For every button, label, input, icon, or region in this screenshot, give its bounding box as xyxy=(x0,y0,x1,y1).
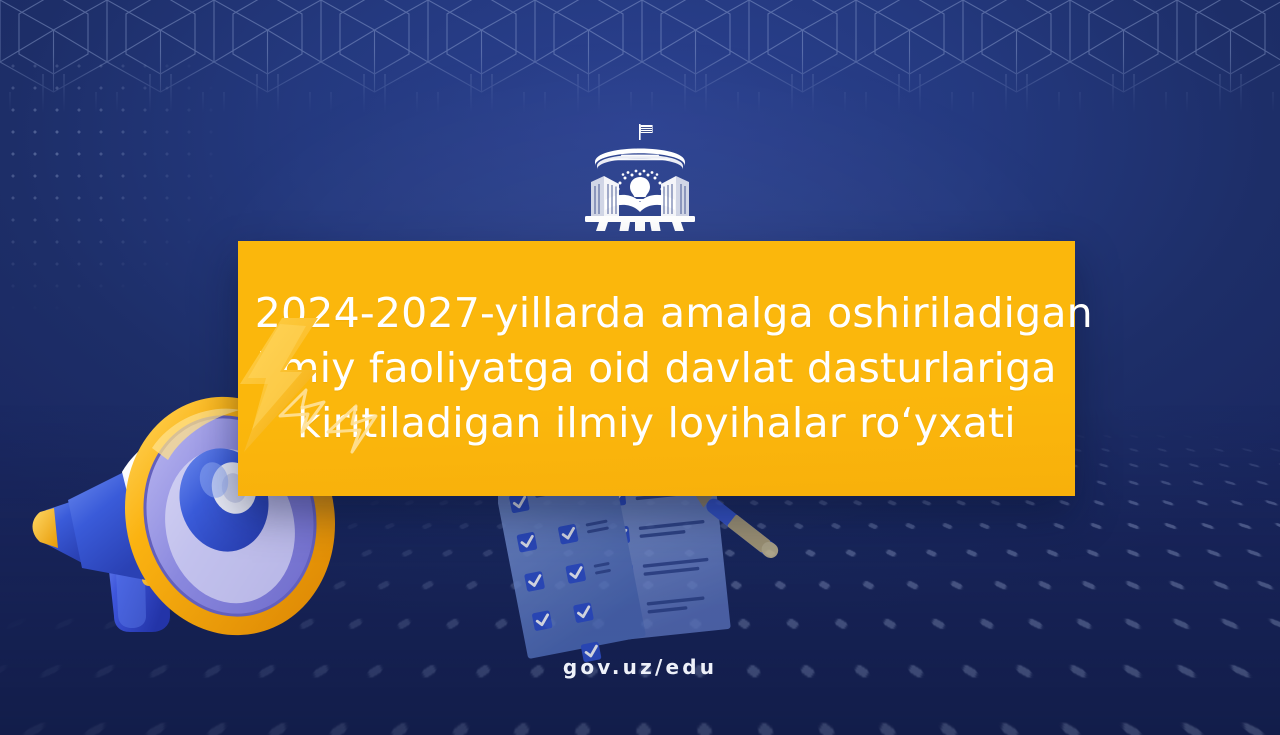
footer-url[interactable]: gov.uz/edu xyxy=(0,655,1280,679)
geometric-hex-pattern xyxy=(0,0,1280,115)
ministry-emblem xyxy=(577,122,703,232)
checklist-papers-illustration xyxy=(498,468,798,668)
announcement-poster: 2024-2027-yillarda amalga oshiriladigan … xyxy=(0,0,1280,735)
ministry-emblem-icon xyxy=(577,122,703,232)
lightning-bolt-outline-icon xyxy=(272,386,400,458)
announcement-line-1: 2024-2027-yillarda amalga oshiriladigan xyxy=(255,286,1059,341)
